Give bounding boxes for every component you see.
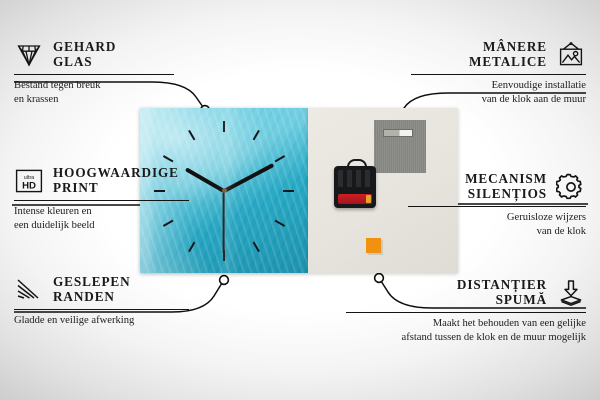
clock-mechanism — [334, 166, 376, 208]
feature-description: Geruisloze wijzers van de klok — [408, 211, 586, 240]
clock-center-cap — [222, 188, 227, 193]
mechanism-grille — [338, 170, 372, 187]
feature-description: Gladde en veilige afwerking — [14, 314, 189, 328]
feature-header: DISTANȚIER SPUMĂ — [346, 278, 586, 308]
feature-title-line2: SILENȚIOS — [468, 187, 547, 202]
feature-header: GESLEPEN RANDEN — [14, 275, 189, 305]
feature-title: GEHARD GLAS — [53, 40, 116, 70]
feature-description: Eenvoudige installatie van de klok aan d… — [411, 79, 586, 108]
feature-title-line1: HOOGWAARDIGE — [53, 166, 179, 181]
feature-title-line2: PRINT — [53, 181, 99, 196]
feature-geslepen-randen: GESLEPEN RANDEN Gladde en veilige afwerk… — [14, 275, 189, 328]
feature-distantier-spuma: DISTANȚIER SPUMĂ Maakt het behouden van … — [346, 278, 586, 346]
feature-divider — [14, 309, 189, 310]
feature-description: Maakt het behouden van een gelijke afsta… — [346, 317, 586, 346]
feature-manere-metalice: MÂNERE METALICE Eenvoudige installatie v… — [411, 40, 586, 108]
bevelled-edges-icon — [14, 277, 44, 303]
feature-divider — [14, 74, 174, 75]
mechanism-hanging-loop — [347, 159, 367, 170]
metal-hanger-plate — [374, 120, 426, 173]
clock-second-hand — [223, 191, 225, 253]
feature-description: Intense kleuren en een duidelijk beeld — [14, 205, 189, 234]
feature-title: HOOGWAARDIGE PRINT — [53, 166, 179, 196]
spacer-foam-icon — [556, 279, 586, 307]
hanging-picture-icon — [556, 41, 586, 69]
feature-title: GESLEPEN RANDEN — [53, 275, 131, 305]
feature-header: MECANISM SILENȚIOS — [408, 172, 586, 202]
feature-title-line2: METALICE — [469, 55, 547, 70]
hanger-slot — [383, 129, 413, 137]
feature-title-line1: MECANISM — [465, 172, 547, 187]
feature-hoogwaardige-print: ultra HD HOOGWAARDIGE PRINT Intense kleu… — [14, 166, 189, 234]
foam-spacer — [366, 238, 381, 253]
feature-header: ultra HD HOOGWAARDIGE PRINT — [14, 166, 189, 196]
gear-icon — [556, 173, 586, 201]
product-feature-infographic: GEHARD GLAS Bestand tegen breuk en krass… — [0, 0, 600, 400]
feature-title-line1: DISTANȚIER — [457, 278, 547, 293]
ultra-hd-icon: ultra HD — [14, 168, 44, 194]
clock-tick — [224, 190, 294, 192]
clock-tick — [223, 121, 225, 191]
feature-title: DISTANȚIER SPUMĂ — [457, 278, 547, 308]
feature-divider — [14, 200, 189, 201]
feature-title-line2: RANDEN — [53, 290, 115, 305]
feature-title-line2: SPUMĂ — [496, 293, 547, 308]
feature-gehard-glas: GEHARD GLAS Bestand tegen breuk en krass… — [14, 40, 174, 108]
feature-divider — [346, 312, 586, 313]
feature-header: MÂNERE METALICE — [411, 40, 586, 70]
callout-dot-geslepen-randen — [220, 276, 229, 285]
feature-title-line1: GEHARD — [53, 40, 116, 55]
feature-header: GEHARD GLAS — [14, 40, 174, 70]
feature-title: MECANISM SILENȚIOS — [465, 172, 547, 202]
feature-title-line1: MÂNERE — [483, 40, 547, 55]
feature-mecanism-silentios: MECANISM SILENȚIOS Geruisloze wijzers va… — [408, 172, 586, 240]
svg-text:HD: HD — [22, 180, 36, 191]
diamond-icon — [14, 42, 44, 68]
feature-divider — [411, 74, 586, 75]
battery — [338, 194, 372, 204]
feature-title-line1: GESLEPEN — [53, 275, 131, 290]
feature-title-line2: GLAS — [53, 55, 93, 70]
feature-description: Bestand tegen breuk en krassen — [14, 79, 174, 108]
feature-divider — [408, 206, 586, 207]
feature-title: MÂNERE METALICE — [469, 40, 547, 70]
